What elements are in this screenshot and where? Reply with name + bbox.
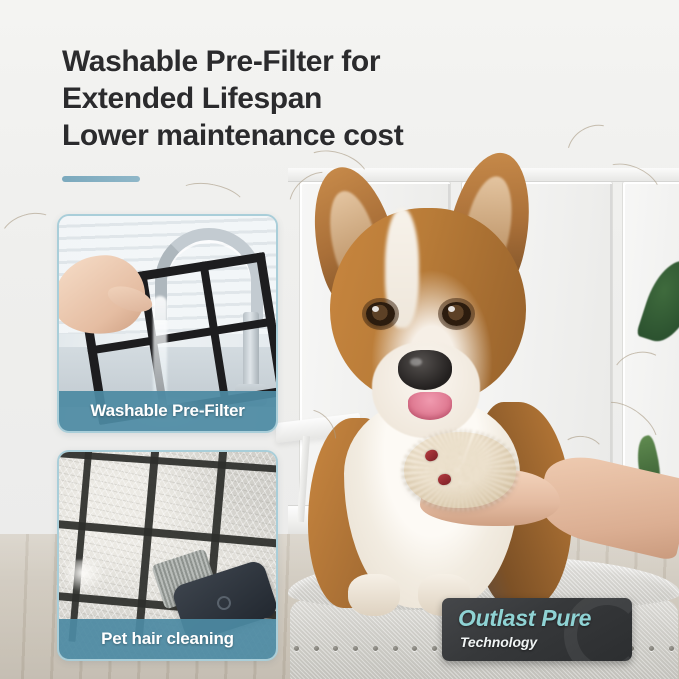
feature-card-washable-prefilter: Washable Pre-Filter (57, 214, 278, 433)
page-title: Washable Pre-Filter for Extended Lifespa… (62, 44, 582, 155)
headline-line-2: Extended Lifespan (62, 81, 582, 118)
dog-paw (348, 574, 400, 616)
feature-card-pet-hair-cleaning: Pet hair cleaning (57, 450, 278, 661)
dog-eye-left (366, 302, 395, 326)
headline-line-3: Lower maintenance cost (62, 118, 582, 155)
dog-nose (398, 350, 452, 390)
card-caption: Washable Pre-Filter (59, 391, 276, 431)
accent-divider-bar (62, 176, 140, 182)
outlast-pure-technology-badge: Outlast Pure Technology (442, 598, 632, 661)
badge-subtitle: Technology (460, 634, 537, 650)
corgi-dog (300, 150, 600, 620)
pet-hair-ball (404, 432, 516, 508)
dog-eye-right (442, 302, 471, 326)
card-caption: Pet hair cleaning (59, 619, 276, 659)
badge-title: Outlast Pure (458, 605, 591, 632)
headline-line-1: Washable Pre-Filter for (62, 44, 582, 81)
dog-tongue (408, 392, 452, 420)
